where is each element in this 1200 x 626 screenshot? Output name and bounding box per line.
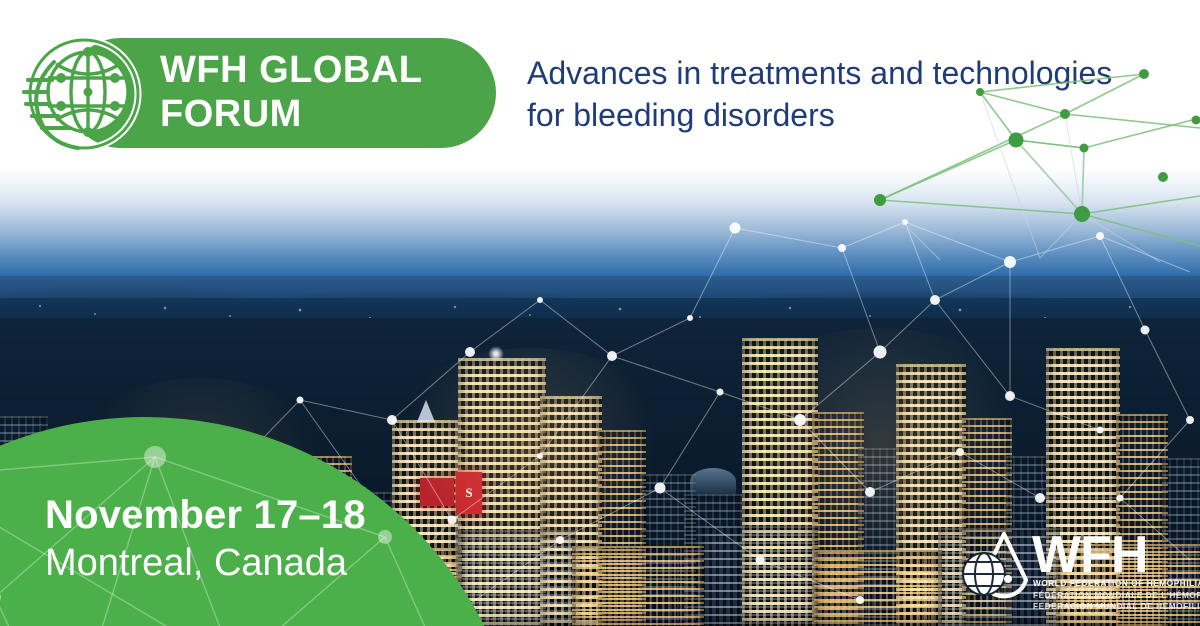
- wordmark-line-1: WFH GLOBAL: [160, 49, 423, 91]
- wfh-full-name: WORLD FEDERATION OF HEMOPHILIA FÉDÉRATIO…: [1033, 578, 1191, 613]
- wordmark-line-2: FORUM: [160, 92, 490, 136]
- wfh-globe-droplet-icon: [960, 530, 1032, 608]
- event-location: Montreal, Canada: [45, 540, 366, 586]
- wordmark: WFH GLOBAL FORUM: [160, 48, 490, 136]
- subtitle-line-1: Advances in treatments and technologies: [527, 52, 1167, 94]
- wfh-globe-icon: [18, 32, 146, 156]
- wfh-acronym: WFH: [1032, 528, 1147, 582]
- event-date-location: November 17–18 Montreal, Canada: [45, 492, 366, 586]
- wfh-name-fr: FÉDÉRATION MONDIALE DE L'HÉMOPHILIE: [1033, 590, 1191, 602]
- wfh-name-es: FEDERACIÓN MUNDIAL DE HEMOFILIA: [1033, 601, 1191, 613]
- event-subtitle: Advances in treatments and technologies …: [527, 52, 1167, 136]
- wfh-global-forum-banner: S: [0, 0, 1200, 626]
- wfh-footer-logo: WFH WORLD FEDERATION OF HEMOPHILIA FÉDÉR…: [960, 528, 1190, 614]
- subtitle-line-2: for bleeding disorders: [527, 94, 1167, 136]
- event-dates: November 17–18: [45, 492, 366, 538]
- building-sign-glyph: S: [465, 485, 472, 501]
- wfh-name-en: WORLD FEDERATION OF HEMOPHILIA: [1033, 578, 1191, 590]
